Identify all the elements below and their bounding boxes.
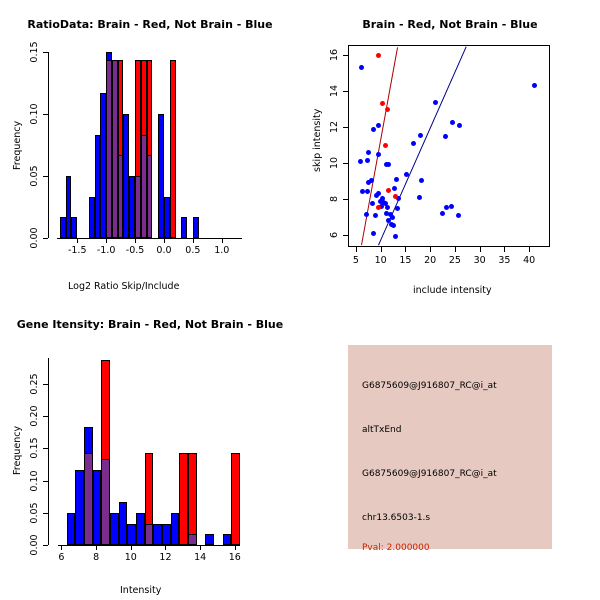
histogram-bar [193, 217, 199, 238]
scatter-y-tick [343, 235, 348, 236]
x-tick-label: -1.5 [68, 245, 87, 256]
scatter-y-tick [343, 163, 348, 164]
y-tick [43, 114, 48, 115]
x-axis-line [57, 238, 242, 239]
y-axis-line [48, 52, 49, 238]
scatter-points-area [349, 46, 549, 246]
histogram-bar [110, 513, 119, 545]
histogram-bar [127, 524, 136, 545]
info-line-5: Pval: 2.000000 [362, 543, 430, 553]
y-tick [43, 448, 48, 449]
scatter-y-tick [343, 199, 348, 200]
scatter-point [376, 123, 381, 128]
scatter-point [371, 127, 376, 132]
x-tick-label: 12 [159, 552, 171, 563]
ratio-plot-title: RatioData: Brain - Red, Not Brain - Blue [0, 18, 300, 31]
histogram-bar [170, 60, 176, 238]
x-tick-label: 10 [125, 552, 137, 563]
ratio-x-axis-label: Log2 Ratio Skip/Include [68, 281, 179, 292]
y-tick [43, 176, 48, 177]
y-tick-label: 0.00 [29, 534, 40, 555]
x-tick [96, 545, 97, 550]
scatter-x-tick-label: 25 [449, 255, 461, 266]
y-tick-label: 0.10 [29, 103, 40, 124]
x-tick-label: 16 [229, 552, 241, 563]
y-tick [43, 238, 48, 239]
scatter-x-axis-label: include intensity [413, 285, 492, 296]
x-tick-label: 0.0 [156, 245, 171, 256]
y-tick-label: 0.15 [29, 438, 40, 459]
info-line-3: G6875609@J916807_RC@i_at [362, 469, 497, 479]
scatter-point [358, 159, 363, 164]
scatter-x-tick-label: 35 [498, 255, 510, 266]
gene-x-axis-label: Intensity [120, 585, 161, 596]
scatter-point [532, 83, 537, 88]
x-tick [106, 238, 107, 243]
x-tick-label: -0.5 [126, 245, 145, 256]
ratio-histogram-panel: RatioData: Brain - Red, Not Brain - Blue… [0, 0, 300, 300]
y-tick [43, 545, 48, 546]
scatter-x-tick-label: 5 [353, 255, 359, 266]
histogram-bar [231, 453, 240, 545]
scatter-y-axis-label: skip intensity [312, 109, 323, 172]
scatter-point [374, 193, 379, 198]
x-tick [131, 545, 132, 550]
scatter-point [450, 120, 455, 125]
scatter-point [360, 189, 365, 194]
scatter-point [457, 123, 462, 128]
histogram-bar [119, 502, 128, 545]
x-tick-label: 6 [58, 552, 64, 563]
scatter-point [444, 205, 449, 210]
scatter-point [386, 188, 391, 193]
scatter-point [373, 213, 378, 218]
gene-bars-area [50, 340, 290, 545]
gene-info-lines: G6875609@J916807_RC@i_ataltTxEndG6875609… [348, 345, 552, 549]
scatter-point [385, 205, 390, 210]
x-tick-label: 14 [194, 552, 206, 563]
y-tick [43, 416, 48, 417]
scatter-x-tick [356, 247, 357, 252]
scatter-y-tick-label: 16 [329, 49, 340, 61]
scatter-plot-panel: Brain - Red, Not Brain - Blue skip inten… [300, 0, 600, 300]
x-tick [222, 238, 223, 243]
x-tick [235, 545, 236, 550]
scatter-point [394, 177, 399, 182]
scatter-x-tick [504, 247, 505, 252]
scatter-point [419, 178, 424, 183]
scatter-point [376, 152, 381, 157]
scatter-plot-title: Brain - Red, Not Brain - Blue [300, 18, 600, 31]
scatter-point [391, 223, 396, 228]
y-tick-label: 0.00 [29, 227, 40, 248]
x-tick [200, 545, 201, 550]
x-tick [164, 238, 165, 243]
ratio-y-axis-label: Frequency [12, 121, 23, 170]
y-axis-line [48, 358, 49, 545]
scatter-y-tick [343, 91, 348, 92]
histogram-bar [205, 534, 214, 545]
x-tick-label: 8 [93, 552, 99, 563]
scatter-point [384, 162, 389, 167]
scatter-x-tick [381, 247, 382, 252]
scatter-y-tick-label: 10 [329, 157, 340, 169]
histogram-bar-overlap [101, 459, 110, 545]
histogram-bar [153, 524, 162, 545]
y-tick-label: 0.05 [29, 165, 40, 186]
scatter-x-tick-label: 40 [523, 255, 535, 266]
scatter-point [371, 231, 376, 236]
scatter-point [393, 234, 398, 239]
histogram-bar [162, 524, 171, 545]
y-tick [43, 384, 48, 385]
gene-histogram-panel: Gene Itensity: Brain - Red, Not Brain - … [0, 300, 300, 600]
y-tick-label: 0.10 [29, 470, 40, 491]
histogram-bar [223, 534, 232, 545]
histogram-bar [188, 453, 197, 545]
x-tick-label: 0.5 [185, 245, 200, 256]
scatter-x-tick-label: 10 [375, 255, 387, 266]
scatter-x-tick [529, 247, 530, 252]
scatter-point [366, 180, 371, 185]
histogram-bar [71, 217, 77, 238]
scatter-point [392, 186, 397, 191]
info-line-4: chr13.6503-1.s [362, 513, 430, 523]
x-tick [61, 545, 62, 550]
y-tick-label: 0.20 [29, 405, 40, 426]
gene-y-axis-label: Frequency [12, 426, 23, 475]
x-axis-line [58, 545, 240, 546]
scatter-x-tick [455, 247, 456, 252]
histogram-bar [171, 513, 180, 545]
ratio-bars-area [50, 40, 290, 238]
scatter-point [433, 100, 438, 105]
y-tick-label: 0.15 [29, 41, 40, 62]
histogram-bar [181, 217, 187, 238]
y-tick-label: 0.25 [29, 373, 40, 394]
scatter-point [395, 206, 400, 211]
scatter-x-tick [430, 247, 431, 252]
info-line-1: G6875609@J916807_RC@i_at [362, 381, 497, 391]
scatter-point [376, 53, 381, 58]
scatter-point [411, 141, 416, 146]
scatter-point [365, 158, 370, 163]
x-tick [193, 238, 194, 243]
scatter-x-tick [405, 247, 406, 252]
y-tick-label: 0.05 [29, 502, 40, 523]
scatter-x-tick-label: 20 [424, 255, 436, 266]
scatter-point [418, 133, 423, 138]
scatter-y-tick [343, 127, 348, 128]
scatter-point [443, 134, 448, 139]
x-tick [165, 545, 166, 550]
scatter-point [449, 204, 454, 209]
x-tick-label: 1.0 [214, 245, 229, 256]
scatter-point [417, 195, 422, 200]
y-tick [43, 52, 48, 53]
scatter-y-tick-label: 14 [329, 85, 340, 97]
scatter-point [366, 150, 371, 155]
histogram-bar-overlap [188, 534, 197, 545]
gene-plot-title: Gene Itensity: Brain - Red, Not Brain - … [0, 318, 300, 331]
x-tick [135, 238, 136, 243]
scatter-point [440, 211, 445, 216]
scatter-point [385, 107, 390, 112]
scatter-point [456, 213, 461, 218]
scatter-y-tick-label: 12 [329, 121, 340, 133]
histogram-bar [179, 453, 188, 545]
histogram-bar-overlap [145, 524, 154, 545]
scatter-y-tick-label: 8 [329, 196, 340, 202]
scatter-point [383, 143, 388, 148]
scatter-x-tick-label: 30 [474, 255, 486, 266]
scatter-point [393, 194, 398, 199]
scatter-y-tick [343, 55, 348, 56]
scatter-x-tick-label: 15 [399, 255, 411, 266]
scatter-point [380, 101, 385, 106]
histogram-bar-overlap [84, 453, 93, 545]
scatter-point [376, 205, 381, 210]
x-tick [77, 238, 78, 243]
x-tick-label: -1.0 [97, 245, 116, 256]
histogram-bar [75, 470, 84, 545]
scatter-y-tick-label: 6 [329, 232, 340, 238]
info-line-2: altTxEnd [362, 425, 401, 435]
scatter-x-tick [480, 247, 481, 252]
histogram-bar [93, 470, 102, 545]
y-tick [43, 513, 48, 514]
histogram-bar-overlap [147, 155, 153, 238]
scatter-point [359, 65, 364, 70]
y-tick [43, 481, 48, 482]
histogram-bar [136, 513, 145, 545]
histogram-bar [67, 513, 76, 545]
scatter-point [364, 212, 369, 217]
scatter-point [370, 201, 375, 206]
